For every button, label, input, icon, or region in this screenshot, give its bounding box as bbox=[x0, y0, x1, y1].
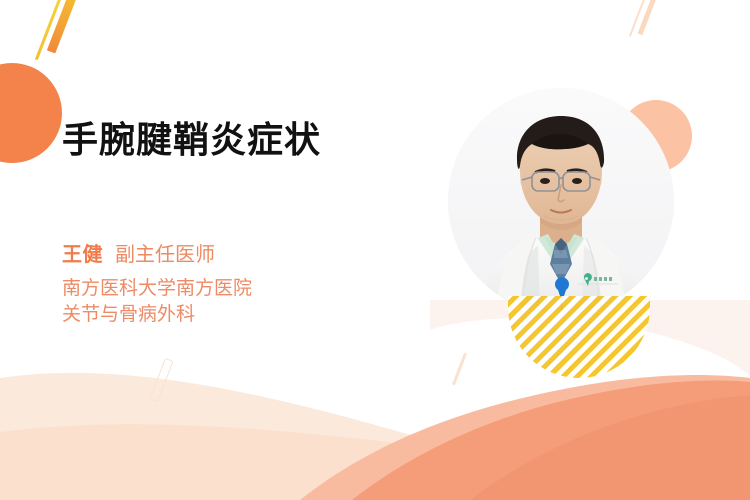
doctor-portrait bbox=[448, 88, 674, 314]
doctor-byline: 王健副主任医师 bbox=[62, 164, 422, 270]
doctor-name: 王健 bbox=[62, 244, 103, 266]
portrait-circle-frame bbox=[448, 88, 674, 314]
affiliation-department: 关节与骨病外科 bbox=[62, 302, 422, 328]
doctor-affiliation: 南方医科大学南方医院 关节与骨病外科 bbox=[62, 270, 422, 328]
text-block: 手腕腱鞘炎症状 王健副主任医师 南方医科大学南方医院 关节与骨病外科 bbox=[62, 116, 422, 328]
doctor-title: 副主任医师 bbox=[103, 244, 215, 266]
video-cover-card: 手腕腱鞘炎症状 王健副主任医师 南方医科大学南方医院 关节与骨病外科 bbox=[0, 0, 750, 500]
affiliation-hospital: 南方医科大学南方医院 bbox=[62, 276, 422, 302]
doctor-portrait-illustration bbox=[448, 88, 674, 314]
page-title: 手腕腱鞘炎症状 bbox=[62, 116, 422, 164]
